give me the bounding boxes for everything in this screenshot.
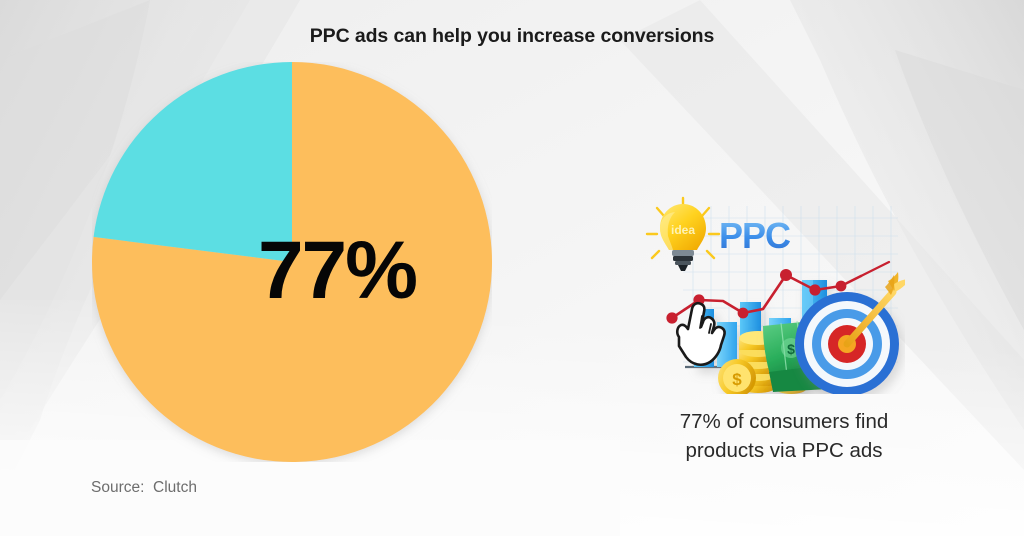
lightbulb-icon: idea bbox=[647, 198, 719, 271]
bulb-base-2 bbox=[673, 256, 693, 261]
hand-cursor-icon bbox=[677, 303, 724, 364]
ppc-illustration: PPC idea bbox=[645, 196, 905, 394]
ppc-wordmark: PPC bbox=[719, 215, 791, 256]
caption-line-2: products via PPC ads bbox=[614, 436, 954, 465]
bulb-tip bbox=[678, 265, 688, 271]
banknote-dollar-symbol: $ bbox=[787, 341, 795, 357]
bulb-base-3 bbox=[675, 261, 691, 265]
source-note: Source: Clutch bbox=[91, 479, 197, 497]
coin-dollar-symbol: $ bbox=[732, 370, 742, 389]
pie-center-value: 77% bbox=[232, 228, 442, 314]
caption-line-1: 77% of consumers find bbox=[614, 407, 954, 436]
illustration-caption: 77% of consumers find products via PPC a… bbox=[614, 407, 954, 465]
trend-line-tail bbox=[861, 262, 889, 276]
page-title: PPC ads can help you increase conversion… bbox=[0, 25, 1024, 48]
bulb-idea-label: idea bbox=[671, 223, 695, 237]
bulb-base-1 bbox=[672, 250, 694, 256]
